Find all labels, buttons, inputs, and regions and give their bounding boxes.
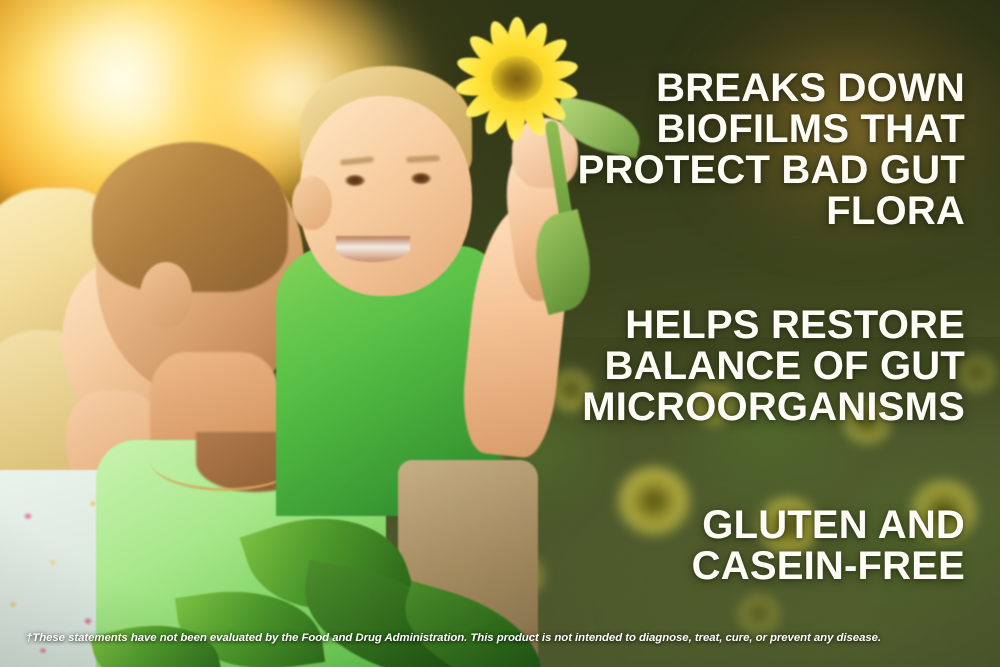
headline-biofilms-line-3: PROTECT BAD GUT [578,150,965,191]
headline-restore-balance: HELPS RESTORE BALANCE OF GUT MICROORGANI… [582,305,965,428]
headline-restore-line-1: HELPS RESTORE [582,305,965,346]
headline-restore-line-3: MICROORGANISMS [582,387,965,428]
headline-restore-line-2: BALANCE OF GUT [582,346,965,387]
headline-biofilms-line-2: BIOFILMS THAT [578,109,965,150]
headline-gluten-line-2: CASEIN-FREE [692,546,965,587]
headline-gluten-line-1: GLUTEN AND [692,505,965,546]
headline-gluten-casein-free: GLUTEN AND CASEIN-FREE [692,505,965,587]
fda-disclaimer: †These statements have not been evaluate… [26,632,980,644]
headline-biofilms: BREAKS DOWN BIOFILMS THAT PROTECT BAD GU… [578,68,965,232]
advertisement-banner: BREAKS DOWN BIOFILMS THAT PROTECT BAD GU… [0,0,1000,667]
headline-biofilms-line-4: FLORA [578,191,965,232]
headline-biofilms-line-1: BREAKS DOWN [578,68,965,109]
